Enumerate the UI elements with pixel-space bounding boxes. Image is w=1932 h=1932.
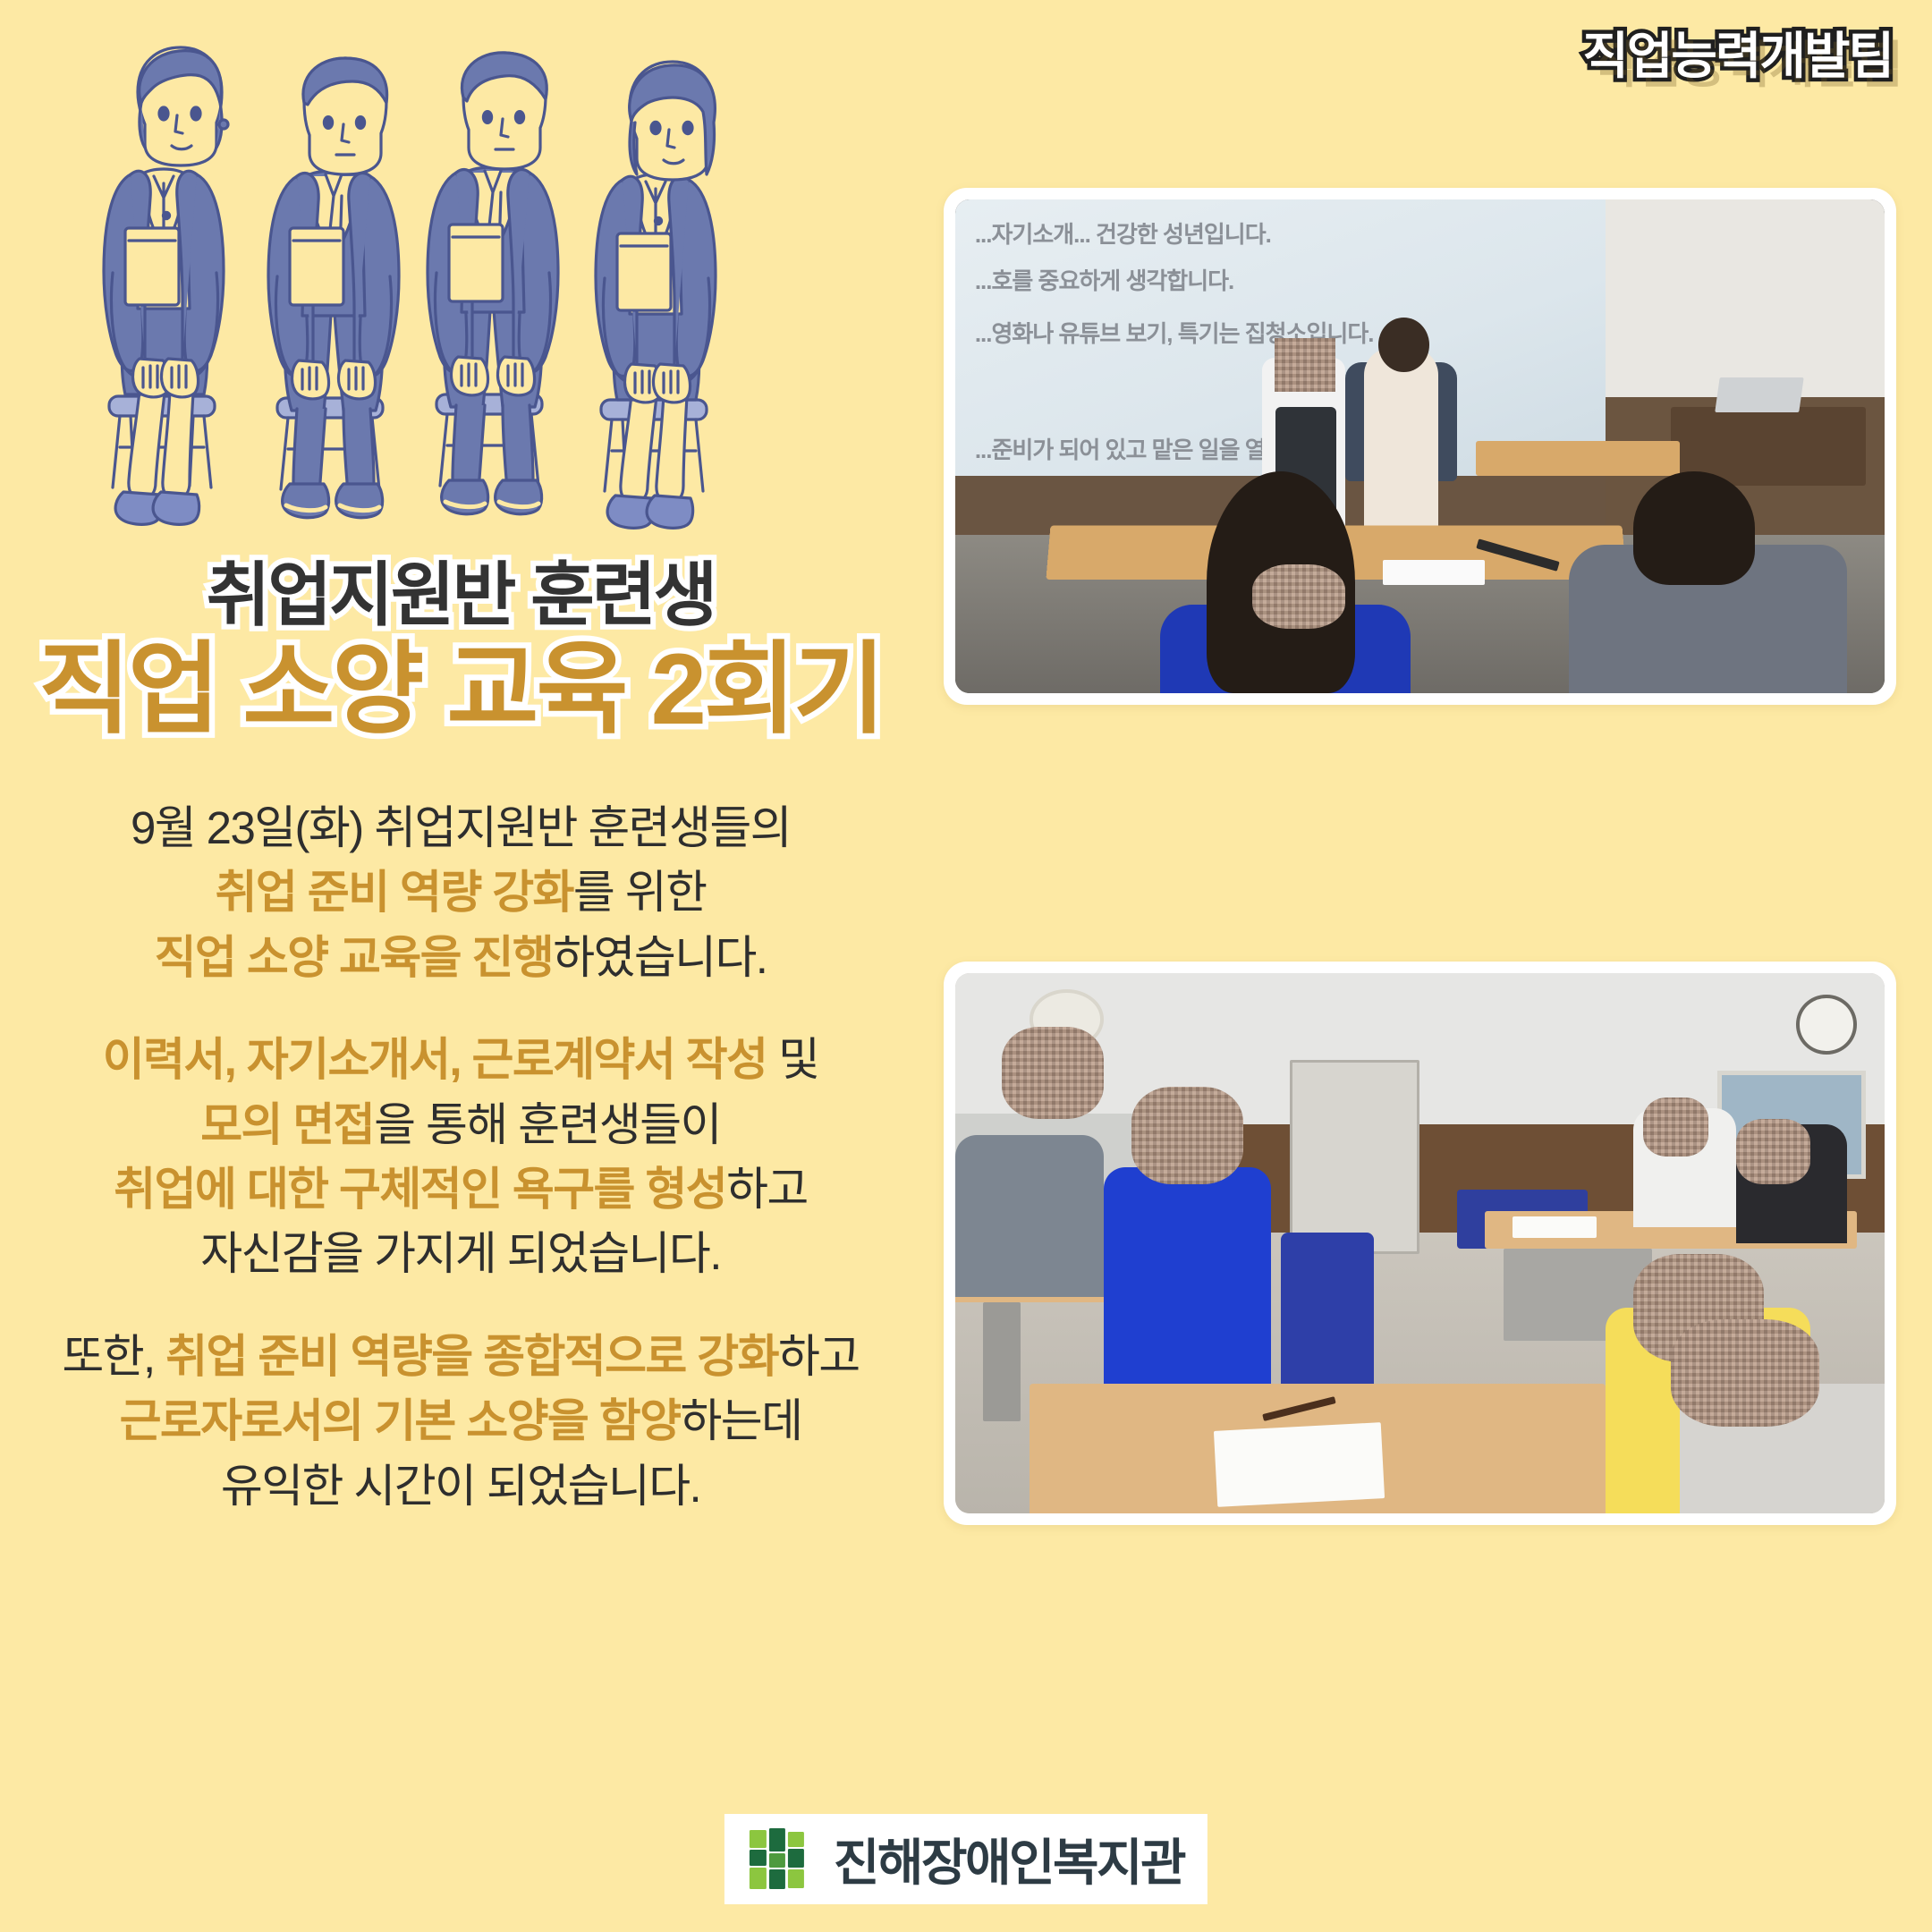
highlight-text: 직업 소양 교육을 진행 xyxy=(155,932,554,983)
paragraph-1: 9월 23일(화) 취업지원반 훈련생들의취업 준비 역량 강화를 위한직업 소… xyxy=(9,796,912,990)
plain-text: 9월 23일(화) 취업지원반 훈련생들의 xyxy=(131,802,791,853)
illustration-person-2 xyxy=(268,58,399,518)
organization-name: 진해장애인복지관 xyxy=(834,1823,1184,1895)
plain-text: 및 xyxy=(767,1034,818,1085)
left-content-column: 취업지원반 훈련생 직업 소양 교육 2회기 9월 23일(화) 취업지원반 훈… xyxy=(0,0,921,1932)
paragraph-line: 취업에 대한 구체적인 욕구를 형성하고 xyxy=(9,1157,912,1222)
plain-text: 또한, xyxy=(62,1331,165,1382)
paragraph-line: 이력서, 자기소개서, 근로계약서 작성 및 xyxy=(9,1028,912,1092)
team-badge: 직업능력개발팀 xyxy=(1582,16,1893,89)
photo-top-presentation: ...자기소개... 건강한 성년입니다. ...호를 중요하게 생각합니다. … xyxy=(944,188,1896,705)
seated-interviewees-illustration xyxy=(89,40,823,541)
face-pixelation-presenter xyxy=(1275,338,1335,393)
screen-line-1: ...자기소개... 건강한 성년입니다. xyxy=(975,216,1271,250)
face-pixelation-student-back xyxy=(1252,564,1345,629)
highlight-text: 취업 준비 역량을 종합적으로 강화 xyxy=(165,1331,778,1382)
highlight-text: 취업에 대한 구체적인 욕구를 형성 xyxy=(114,1164,726,1215)
plain-text: 유익한 시간이 되었습니다. xyxy=(221,1461,700,1512)
plain-text: 하고 xyxy=(778,1331,860,1382)
paragraph-3: 또한, 취업 준비 역량을 종합적으로 강화하고근로자로서의 기본 소양을 함양… xyxy=(9,1325,912,1519)
illustration-person-1 xyxy=(104,47,228,524)
paragraph-line: 취업 준비 역량 강화를 위한 xyxy=(9,860,912,925)
screen-line-4: ...준비가 되어 있고 맡은 일을 열심... xyxy=(975,432,1302,465)
plain-text: 자신감을 가지게 되었습니다. xyxy=(200,1228,721,1279)
title-line-2: 직업 소양 교육 2회기 xyxy=(0,634,921,744)
title-line-1: 취업지원반 훈련생 xyxy=(0,559,921,632)
wall-clock-icon xyxy=(1796,995,1857,1054)
welfare-center-logo-icon xyxy=(748,1826,814,1893)
screen-line-2: ...호를 중요하게 생각합니다. xyxy=(975,263,1233,296)
footer-organization-logo: 진해장애인복지관 xyxy=(724,1814,1207,1904)
illustration-person-3 xyxy=(428,53,558,514)
face-pixelation-2 xyxy=(1736,1119,1810,1183)
paragraph-line: 직업 소양 교육을 진행하였습니다. xyxy=(9,926,912,990)
face-pixelation-4 xyxy=(1131,1087,1243,1184)
plain-text: 하는데 xyxy=(680,1395,801,1446)
highlight-text: 모의 면접 xyxy=(200,1099,374,1150)
highlight-text: 근로자로서의 기본 소양을 함양 xyxy=(120,1395,681,1446)
paragraph-line: 모의 면접을 통해 훈련생들이 xyxy=(9,1093,912,1157)
face-pixelation-3 xyxy=(1002,1027,1104,1119)
plain-text: 하였습니다. xyxy=(553,932,767,983)
paragraph-line: 근로자로서의 기본 소양을 함양하는데 xyxy=(9,1389,912,1453)
paragraph-line: 유익한 시간이 되었습니다. xyxy=(9,1454,912,1519)
paragraph-2: 이력서, 자기소개서, 근로계약서 작성 및모의 면접을 통해 훈련생들이취업에… xyxy=(9,1028,912,1287)
photo-bottom-classroom xyxy=(944,962,1896,1525)
body-copy-block: 9월 23일(화) 취업지원반 훈련생들의취업 준비 역량 강화를 위한직업 소… xyxy=(9,796,912,1519)
paragraph-line: 9월 23일(화) 취업지원반 훈련생들의 xyxy=(9,796,912,860)
plain-text: 을 통해 훈련생들이 xyxy=(374,1099,721,1150)
highlight-text: 취업 준비 역량 강화 xyxy=(216,867,573,918)
paragraph-line: 또한, 취업 준비 역량을 종합적으로 강화하고 xyxy=(9,1325,912,1389)
paragraph-line: 자신감을 가지게 되었습니다. xyxy=(9,1222,912,1286)
highlight-text: 이력서, 자기소개서, 근로계약서 작성 xyxy=(103,1034,767,1085)
title-block: 취업지원반 훈련생 직업 소양 교육 2회기 xyxy=(0,559,921,744)
photo-bottom-scene xyxy=(955,973,1885,1513)
plain-text: 를 위한 xyxy=(573,867,707,918)
illustration-person-4 xyxy=(596,62,716,528)
face-pixelation-1 xyxy=(1643,1097,1708,1157)
plain-text: 하고 xyxy=(726,1164,808,1215)
face-pixelation-6 xyxy=(1671,1319,1819,1428)
photo-top-scene: ...자기소개... 건강한 성년입니다. ...호를 중요하게 생각합니다. … xyxy=(955,199,1885,693)
